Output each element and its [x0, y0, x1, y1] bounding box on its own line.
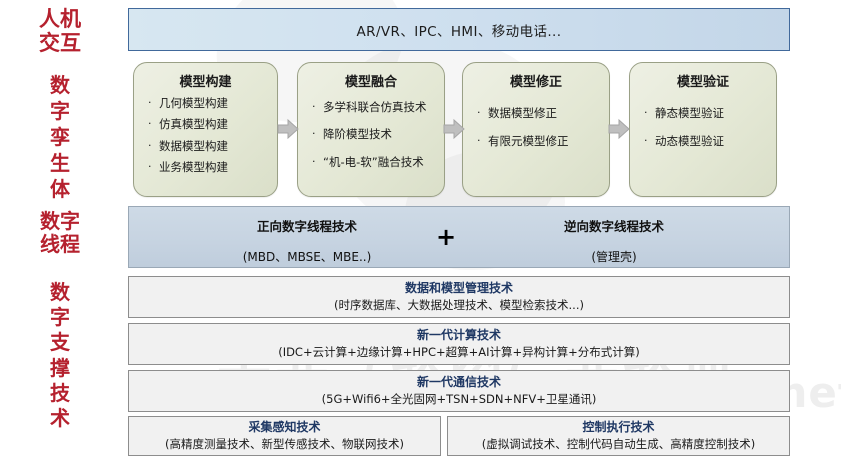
stage-item-label: 数据模型修正: [488, 106, 603, 120]
digital-thread-band[interactable]: 正向数字线程技术 (MBD、MBSE、MBE..) + 逆向数字线程技术 (管理…: [128, 206, 790, 268]
support-row-control-execution[interactable]: 控制执行技术 (虚拟调试技术、控制代码自动生成、高精度控制技术): [447, 416, 790, 456]
stage-box-model-correction[interactable]: 模型修正 ·数据模型修正 ·有限元模型修正: [462, 62, 610, 197]
rail-line: 人机: [0, 8, 120, 32]
stage-item-label: 降阶模型技术: [323, 127, 438, 141]
rail-label-digital-twin: 数 字 孪 生 体: [0, 72, 120, 202]
reverse-digital-thread: 逆向数字线程技术 (管理壳): [474, 216, 754, 265]
support-subtitle: (时序数据库、大数据处理技术、模型检索技术...): [334, 298, 584, 312]
rail-line: 字: [0, 98, 120, 124]
rail-line: 数: [0, 72, 120, 98]
support-row-data-and-model-management[interactable]: 数据和模型管理技术 (时序数据库、大数据处理技术、模型检索技术...): [128, 276, 790, 318]
plus-icon: +: [434, 225, 458, 249]
stage-box-model-fusion[interactable]: 模型融合 ·多学科联合仿真技术 ·降阶模型技术 ·“机-电-软”融合技术: [297, 62, 445, 197]
support-title: 数据和模型管理技术: [405, 281, 513, 296]
stage-title: 模型构建: [140, 71, 271, 90]
rail-line: 支: [0, 330, 120, 355]
bullet-icon: ·: [148, 96, 159, 110]
stage-item-label: 静态模型验证: [655, 106, 770, 120]
rail-line: 数字: [0, 210, 120, 233]
stage-item-label: “机-电-软”融合技术: [323, 155, 438, 169]
forward-digital-thread: 正向数字线程技术 (MBD、MBSE、MBE..): [167, 216, 447, 265]
list-item: ·“机-电-软”融合技术: [304, 155, 438, 169]
list-item: ·静态模型验证: [636, 106, 770, 120]
list-item: ·多学科联合仿真技术: [304, 100, 438, 114]
support-title: 控制执行技术: [582, 420, 654, 435]
hmi-bar-label: AR/VR、IPC、HMI、移动电话...: [357, 20, 562, 40]
rail-label-human-machine-interaction: 人机 交互: [0, 8, 120, 55]
stage-item-list: ·静态模型验证 ·动态模型验证: [636, 106, 770, 149]
stage-item-label: 几何模型构建: [159, 96, 271, 110]
human-machine-interaction-bar[interactable]: AR/VR、IPC、HMI、移动电话...: [128, 8, 790, 51]
stage-item-list: ·多学科联合仿真技术 ·降阶模型技术 ·“机-电-软”融合技术: [304, 100, 438, 169]
bullet-icon: ·: [477, 134, 488, 148]
stage-box-model-construction[interactable]: 模型构建 ·几何模型构建 ·仿真模型构建 ·数据模型构建 ·业务模型构建: [133, 62, 278, 197]
list-item: ·仿真模型构建: [140, 117, 271, 131]
list-item: ·降阶模型技术: [304, 127, 438, 141]
support-subtitle: (高精度测量技术、新型传感技术、物联网技术): [165, 437, 404, 451]
right-arrow-icon: [608, 118, 630, 140]
stage-item-label: 多学科联合仿真技术: [323, 100, 438, 114]
right-arrow-icon: [277, 118, 299, 140]
thread-title: 逆向数字线程技术: [474, 216, 754, 235]
support-title: 新一代计算技术: [417, 328, 501, 343]
stage-item-label: 数据模型构建: [159, 139, 271, 153]
thread-subtitle: (管理壳): [474, 248, 754, 265]
list-item: ·几何模型构建: [140, 96, 271, 110]
rail-line: 技: [0, 381, 120, 406]
bullet-icon: ·: [644, 106, 655, 120]
bullet-icon: ·: [148, 117, 159, 131]
left-rail: 人机 交互 数 字 孪 生 体 数字 线程 数 字 支 撑 技 术: [0, 0, 120, 463]
rail-line: 交互: [0, 32, 120, 56]
support-row-next-gen-communication[interactable]: 新一代通信技术 (5G+Wifi6+全光固网+TSN+SDN+NFV+卫星通讯): [128, 370, 790, 412]
rail-line: 字: [0, 305, 120, 330]
list-item: ·数据模型修正: [469, 106, 603, 120]
rail-line: 数: [0, 280, 120, 305]
support-row-next-gen-computing[interactable]: 新一代计算技术 (IDC+云计算+边缘计算+HPC+超算+AI计算+异构计算+分…: [128, 323, 790, 365]
bullet-icon: ·: [312, 100, 323, 114]
stage-title: 模型融合: [304, 71, 438, 90]
support-subtitle: (5G+Wifi6+全光固网+TSN+SDN+NFV+卫星通讯): [322, 392, 597, 406]
stage-title: 模型修正: [469, 71, 603, 90]
support-title: 采集感知技术: [248, 420, 320, 435]
diagram-root: 工业互联网产业联盟 Alliance of Industrial Interne…: [0, 0, 841, 463]
stage-box-model-validation[interactable]: 模型验证 ·静态模型验证 ·动态模型验证: [629, 62, 777, 197]
thread-subtitle: (MBD、MBSE、MBE..): [167, 248, 447, 265]
stage-item-label: 有限元模型修正: [488, 134, 603, 148]
rail-line: 体: [0, 176, 120, 202]
right-arrow-icon: [443, 118, 465, 140]
stage-item-list: ·几何模型构建 ·仿真模型构建 ·数据模型构建 ·业务模型构建: [140, 96, 271, 175]
rail-line: 孪: [0, 124, 120, 150]
stage-item-label: 仿真模型构建: [159, 117, 271, 131]
stage-item-label: 业务模型构建: [159, 160, 271, 174]
support-row-acquisition-sensing[interactable]: 采集感知技术 (高精度测量技术、新型传感技术、物联网技术): [128, 416, 441, 456]
bullet-icon: ·: [148, 160, 159, 174]
rail-label-digital-thread: 数字 线程: [0, 210, 120, 256]
support-subtitle: (虚拟调试技术、控制代码自动生成、高精度控制技术): [482, 437, 755, 451]
rail-line: 术: [0, 406, 120, 431]
list-item: ·有限元模型修正: [469, 134, 603, 148]
list-item: ·业务模型构建: [140, 160, 271, 174]
stage-title: 模型验证: [636, 71, 770, 90]
bullet-icon: ·: [477, 106, 488, 120]
support-title: 新一代通信技术: [417, 375, 501, 390]
bullet-icon: ·: [148, 139, 159, 153]
rail-line: 生: [0, 150, 120, 176]
rail-line: 撑: [0, 356, 120, 381]
stage-item-label: 动态模型验证: [655, 134, 770, 148]
list-item: ·动态模型验证: [636, 134, 770, 148]
rail-label-digital-support-technology: 数 字 支 撑 技 术: [0, 280, 120, 431]
bullet-icon: ·: [312, 127, 323, 141]
rail-line: 线程: [0, 233, 120, 256]
list-item: ·数据模型构建: [140, 139, 271, 153]
thread-title: 正向数字线程技术: [167, 216, 447, 235]
stage-item-list: ·数据模型修正 ·有限元模型修正: [469, 106, 603, 149]
bullet-icon: ·: [312, 155, 323, 169]
support-subtitle: (IDC+云计算+边缘计算+HPC+超算+AI计算+异构计算+分布式计算): [278, 345, 640, 359]
bullet-icon: ·: [644, 134, 655, 148]
